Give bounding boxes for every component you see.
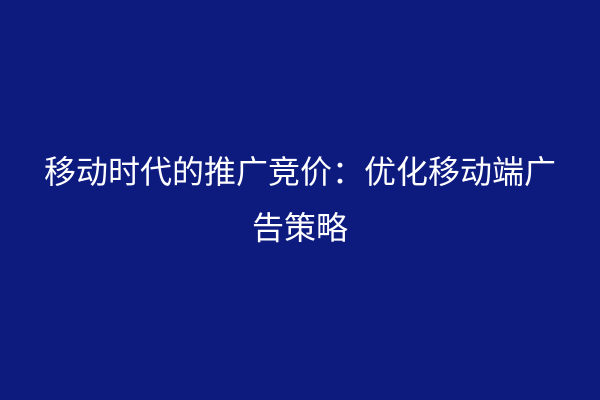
title-block: 移动时代的推广竞价：优化移动端广告策略 <box>30 144 570 256</box>
title-card: 移动时代的推广竞价：优化移动端广告策略 <box>0 0 600 400</box>
page-title: 移动时代的推广竞价：优化移动端广告策略 <box>30 144 570 256</box>
